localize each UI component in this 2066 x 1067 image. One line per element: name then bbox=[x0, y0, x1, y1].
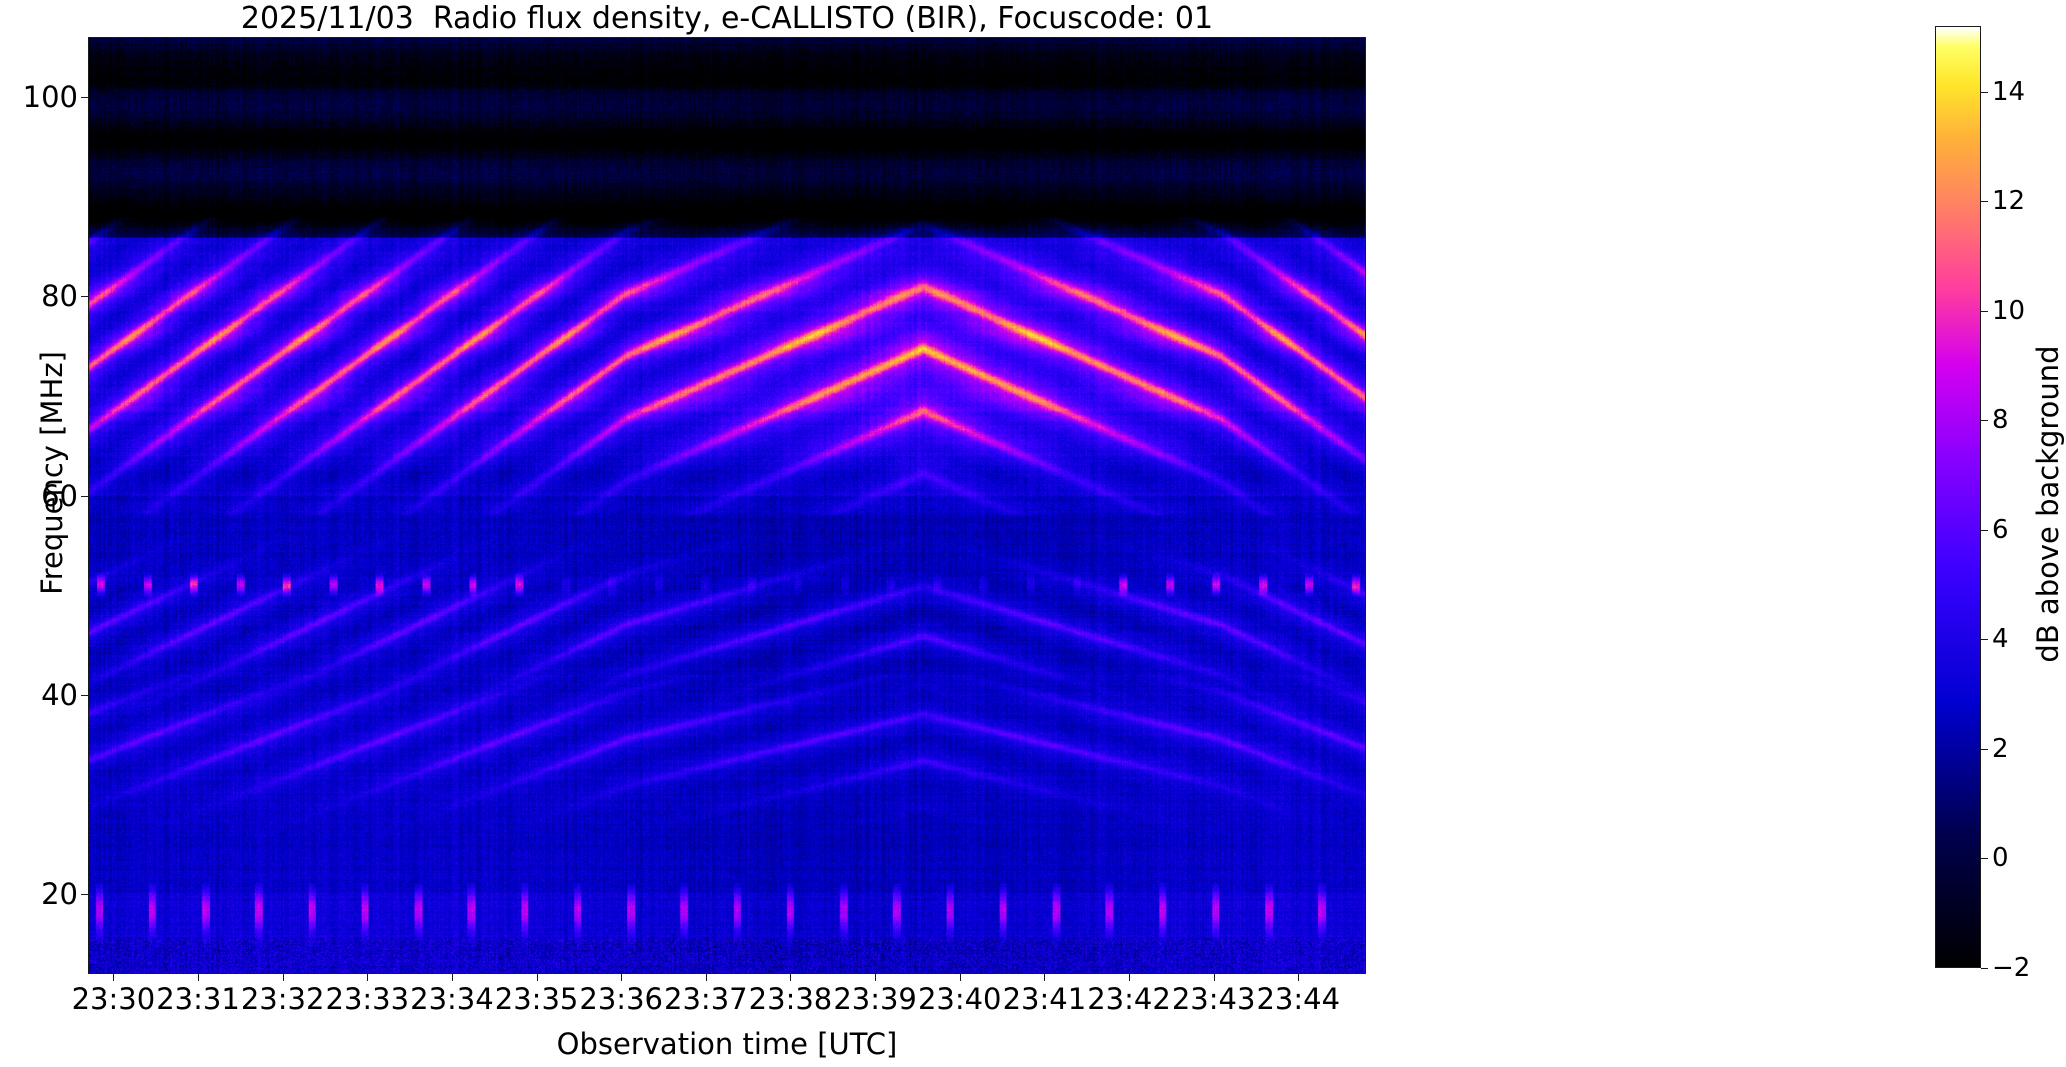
x-tick-mark bbox=[367, 974, 368, 981]
x-tick-mark bbox=[452, 974, 453, 981]
y-tick-label: 100 bbox=[0, 80, 78, 114]
colorbar-tick-label: −2 bbox=[1992, 953, 2030, 983]
y-tick-mark bbox=[81, 695, 88, 696]
page-title: 2025/11/03 Radio flux density, e-CALLIST… bbox=[88, 2, 1366, 36]
colorbar-tick-mark bbox=[1981, 968, 1988, 969]
x-tick-mark bbox=[1044, 974, 1045, 981]
colorbar-tick-mark bbox=[1981, 749, 1988, 750]
colorbar-tick-mark bbox=[1981, 639, 1988, 640]
y-tick-mark bbox=[81, 496, 88, 497]
y-tick-label: 40 bbox=[0, 678, 78, 712]
y-tick-mark bbox=[81, 894, 88, 895]
y-tick-mark bbox=[81, 296, 88, 297]
x-tick-mark bbox=[198, 974, 199, 981]
x-tick-mark bbox=[537, 974, 538, 981]
colorbar-tick-mark bbox=[1981, 311, 1988, 312]
colorbar-tick-label: 8 bbox=[1992, 405, 2009, 435]
x-tick-mark bbox=[790, 974, 791, 981]
spectrogram-axes bbox=[88, 37, 1366, 974]
x-tick-mark bbox=[1214, 974, 1215, 981]
x-tick-mark bbox=[283, 974, 284, 981]
y-tick-label: 60 bbox=[0, 479, 78, 513]
figure-canvas: 2025/11/03 Radio flux density, e-CALLIST… bbox=[0, 0, 2066, 1067]
y-tick-label: 20 bbox=[0, 877, 78, 911]
colorbar bbox=[1935, 26, 1981, 968]
colorbar-tick-label: 0 bbox=[1992, 843, 2009, 873]
colorbar-tick-label: 14 bbox=[1992, 77, 2025, 107]
colorbar-tick-mark bbox=[1981, 420, 1988, 421]
y-tick-mark bbox=[81, 97, 88, 98]
x-tick-label: 23:44 bbox=[1228, 982, 1368, 1016]
colorbar-tick-label: 4 bbox=[1992, 624, 2009, 654]
y-tick-label: 80 bbox=[0, 279, 78, 313]
colorbar-tick-mark bbox=[1981, 201, 1988, 202]
colorbar-tick-mark bbox=[1981, 858, 1988, 859]
x-tick-mark bbox=[113, 974, 114, 981]
colorbar-tick-mark bbox=[1981, 530, 1988, 531]
x-axis-label: Observation time [UTC] bbox=[88, 1027, 1366, 1061]
colorbar-tick-label: 6 bbox=[1992, 515, 2009, 545]
x-tick-mark bbox=[1298, 974, 1299, 981]
colorbar-label: dB above background bbox=[2031, 204, 2065, 804]
colorbar-tick-label: 10 bbox=[1992, 296, 2025, 326]
colorbar-tick-label: 12 bbox=[1992, 186, 2025, 216]
x-tick-mark bbox=[875, 974, 876, 981]
colorbar-tick-label: 2 bbox=[1992, 734, 2009, 764]
x-tick-mark bbox=[960, 974, 961, 981]
colorbar-gradient bbox=[1936, 27, 1980, 967]
x-tick-mark bbox=[1129, 974, 1130, 981]
colorbar-tick-mark bbox=[1981, 92, 1988, 93]
x-tick-mark bbox=[621, 974, 622, 981]
x-tick-mark bbox=[706, 974, 707, 981]
spectrogram-image bbox=[89, 38, 1365, 973]
